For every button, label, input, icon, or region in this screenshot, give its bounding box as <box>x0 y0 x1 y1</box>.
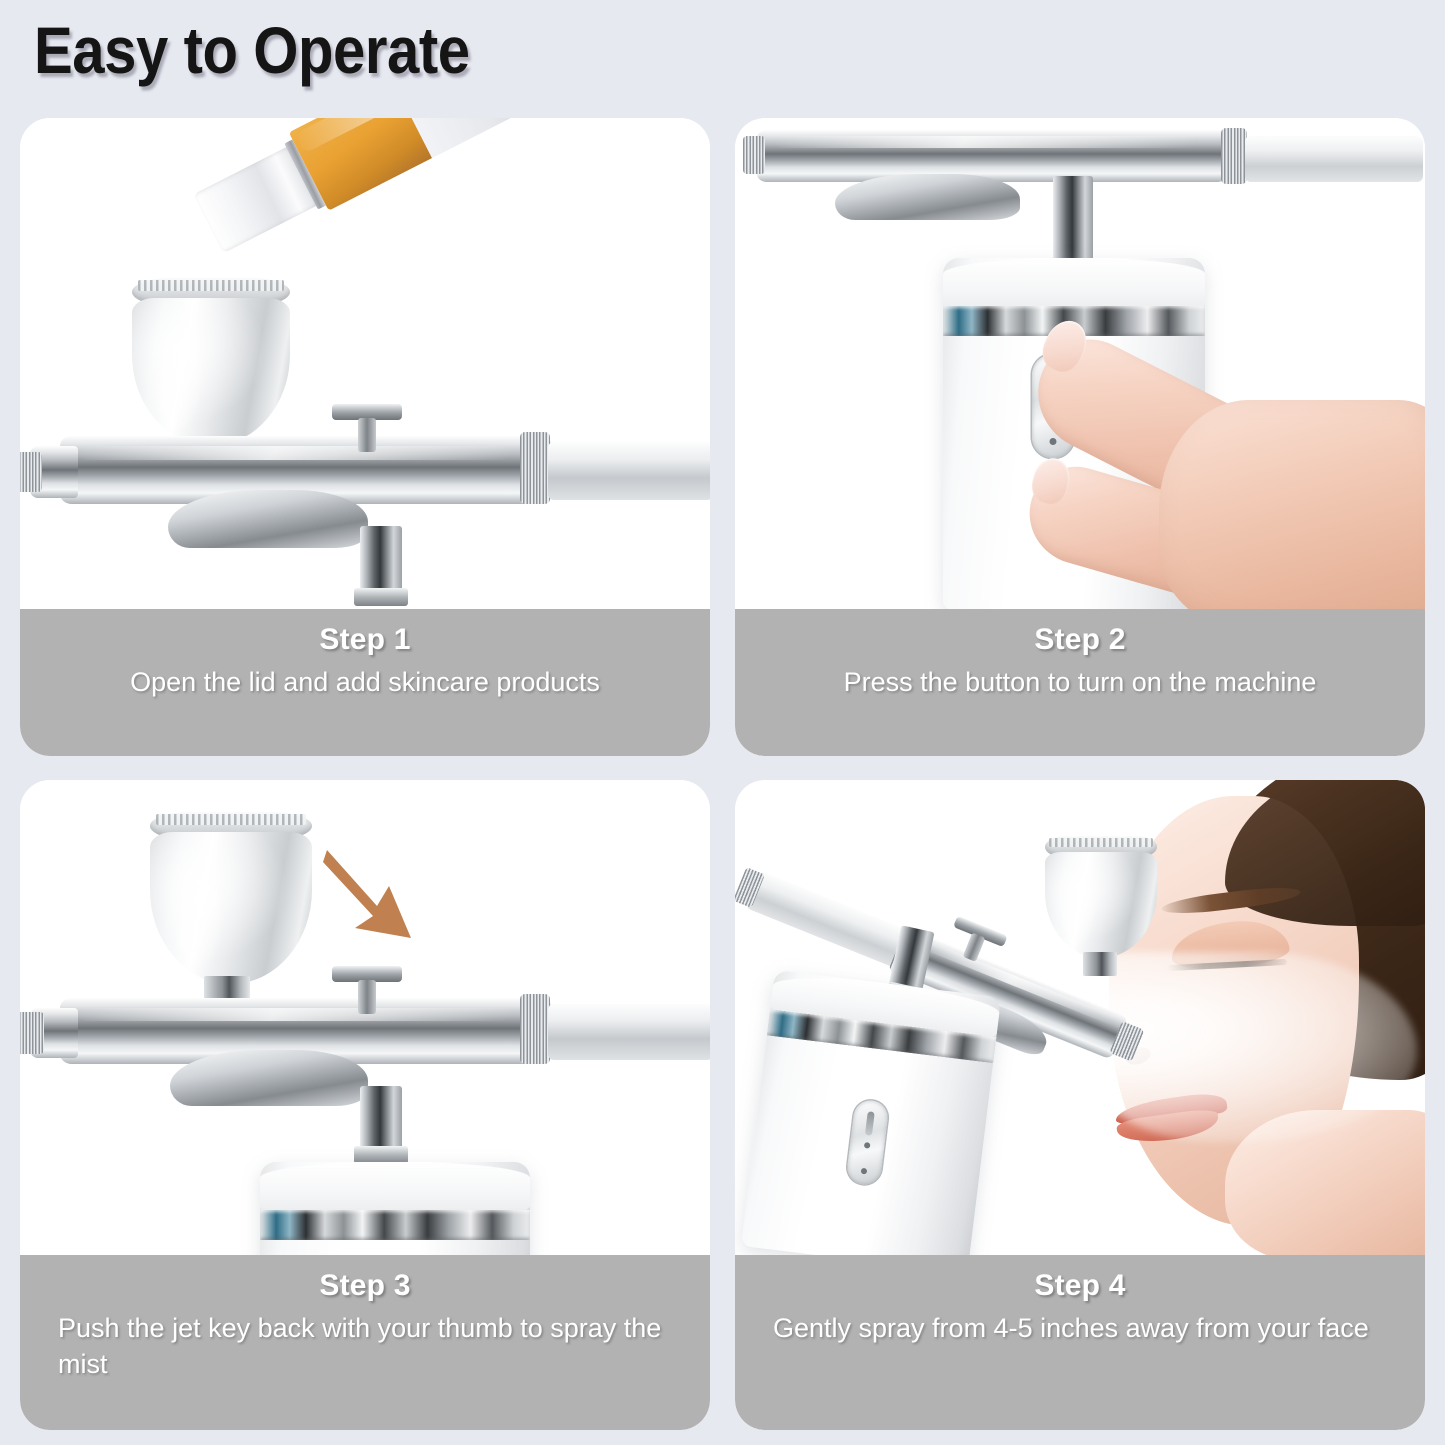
power-led-lower-4 <box>861 1168 868 1175</box>
step-4-caption: Step 4 Gently spray from 4-5 inches away… <box>735 1255 1425 1430</box>
skincare-tube <box>186 118 524 266</box>
airbrush-tail-handle-3 <box>548 1004 710 1060</box>
airbrush-rear-knurl <box>520 432 550 504</box>
cup-bowl <box>132 298 290 446</box>
steps-grid: Step 1 Open the lid and add skincare pro… <box>20 118 1425 1430</box>
airbrush-nozzle-knurl-3 <box>20 1012 44 1054</box>
airbrush-body-top <box>757 130 1227 182</box>
compressor-base-group-4 <box>741 970 1023 1255</box>
airbrush-rear-knurl-2 <box>1221 128 1247 184</box>
palm <box>1159 400 1425 609</box>
cup-bowl-4 <box>1045 852 1157 958</box>
step-card-2[interactable]: Step 2 Press the button to turn on the m… <box>735 118 1425 756</box>
power-button-slot-4 <box>865 1111 875 1136</box>
step-3-description: Push the jet key back with your thumb to… <box>54 1311 676 1382</box>
airbrush-tail-handle-4 <box>745 871 908 968</box>
device-group-4 <box>743 780 1203 1255</box>
paint-cup-3 <box>150 812 312 992</box>
step-3-caption: Step 3 Push the jet key back with your t… <box>20 1255 710 1430</box>
cup-knurled-teeth-4 <box>1049 838 1152 847</box>
step-2-caption: Step 2 Press the button to turn on the m… <box>735 609 1425 756</box>
step-card-3[interactable]: Step 3 Push the jet key back with your t… <box>20 780 710 1430</box>
post-collar <box>354 588 408 606</box>
step-4-photo <box>735 780 1425 1255</box>
step-3-photo <box>20 780 710 1255</box>
step-2-description: Press the button to turn on the machine <box>769 665 1391 701</box>
jet-key-3[interactable] <box>332 966 402 1012</box>
infographic-page: Easy to Operate <box>0 0 1445 1445</box>
jet-key[interactable] <box>332 404 402 450</box>
page-title: Easy to Operate <box>34 12 470 88</box>
step-4-title: Step 4 <box>769 1269 1391 1303</box>
arrow-icon <box>315 840 425 950</box>
power-led-upper-4 <box>864 1142 871 1149</box>
airbrush-trigger-lever-2[interactable] <box>835 174 1020 220</box>
jet-key-stem-3 <box>358 980 376 1014</box>
compressor-base-3 <box>260 1162 530 1255</box>
airbrush-nozzle-knurl <box>20 452 42 492</box>
step-1-photo <box>20 118 710 609</box>
hand <box>1035 308 1425 609</box>
airbrush-trigger-lever[interactable] <box>168 490 368 548</box>
step-1-description: Open the lid and add skincare products <box>54 665 676 701</box>
step-2-title: Step 2 <box>769 623 1391 657</box>
step-card-1[interactable]: Step 1 Open the lid and add skincare pro… <box>20 118 710 756</box>
base-chrome-band-3 <box>260 1210 530 1240</box>
airbrush-tail-handle-2 <box>1245 136 1423 182</box>
jet-key-stem <box>358 418 376 452</box>
step-4-description: Gently spray from 4-5 inches away from y… <box>769 1311 1391 1347</box>
cup-neck-4 <box>1083 952 1117 976</box>
airbrush-trigger-lever-3[interactable] <box>170 1050 368 1106</box>
step-1-caption: Step 1 Open the lid and add skincare pro… <box>20 609 710 756</box>
step-3-title: Step 3 <box>54 1269 676 1303</box>
airbrush-tail-handle <box>548 442 710 500</box>
airbrush-nozzle-knurl-2 <box>743 136 765 174</box>
step-1-title: Step 1 <box>54 623 676 657</box>
jet-key-stem-4 <box>963 933 986 962</box>
cup-bowl-3 <box>150 832 312 984</box>
cup-knurled-teeth-3 <box>156 814 305 825</box>
airbrush-rear-knurl-3 <box>520 994 550 1064</box>
cup-knurled-teeth <box>138 280 283 291</box>
step-2-photo <box>735 118 1425 609</box>
paint-cup <box>132 278 290 453</box>
step-card-4[interactable]: Step 4 Gently spray from 4-5 inches away… <box>735 780 1425 1430</box>
paint-cup-4 <box>1045 836 1157 964</box>
tube-body <box>289 118 522 211</box>
